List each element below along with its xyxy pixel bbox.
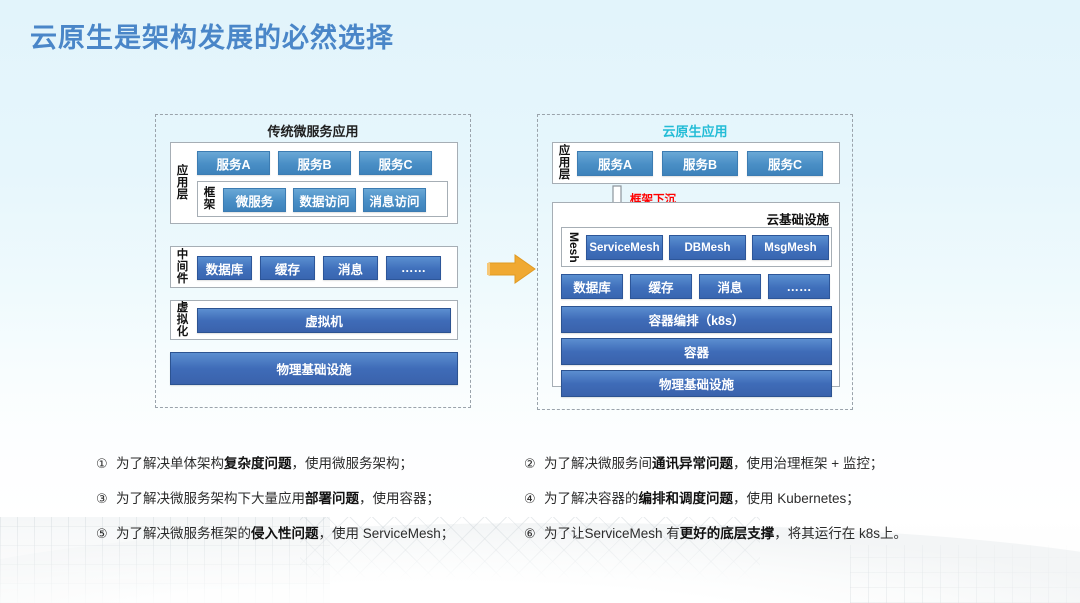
group-application-layer-left: 应用层 服务A 服务B 服务C 框架 微服务 数据访问 消息访问 <box>170 142 458 224</box>
bullet-number-1: ① <box>96 456 116 472</box>
bullet-list: ① 为了解决单体架构复杂度问题，使用微服务架构； ② 为了解决微服务间通讯异常问… <box>0 452 1080 552</box>
box-msg-mesh[interactable]: MsgMesh <box>752 235 829 260</box>
cloud-infrastructure-title: 云基础设施 <box>766 209 829 228</box>
box-service-c-right[interactable]: 服务C <box>747 151 823 176</box>
bullet-text-4-bold: 编排和调度问题 <box>639 487 734 507</box>
box-database-left[interactable]: 数据库 <box>197 256 252 280</box>
group-application-layer-right: 应用层 服务A 服务B 服务C <box>552 142 840 184</box>
box-message-right[interactable]: 消息 <box>699 274 761 299</box>
bullet-text-3-post: ，使用容器； <box>359 487 440 507</box>
bullet-number-2: ② <box>524 456 544 472</box>
bullet-text-6-post: ，将其运行在 k8s上。 <box>774 522 907 542</box>
box-virtual-machine-left[interactable]: 虚拟机 <box>197 308 451 333</box>
background-grid-right <box>850 545 1080 603</box>
bullet-number-6: ⑥ <box>524 526 544 542</box>
box-message-left[interactable]: 消息 <box>323 256 378 280</box>
bullet-text-5-pre: 为了解决微服务框架的 <box>116 522 251 542</box>
box-physical-infrastructure-right[interactable]: 物理基础设施 <box>561 370 832 397</box>
group-framework-left: 框架 微服务 数据访问 消息访问 <box>197 181 448 217</box>
framework-row-left: 微服务 数据访问 消息访问 <box>223 188 426 212</box>
side-label-framework-left: 框架 <box>201 187 218 211</box>
bullet-text-6-bold: 更好的底层支撑 <box>680 522 775 542</box>
side-label-middleware-left: 中间件 <box>174 249 191 285</box>
bullet-text-1-bold: 复杂度问题 <box>224 452 292 472</box>
group-virtualization-left: 虚拟化 虚拟机 <box>170 300 458 340</box>
box-container[interactable]: 容器 <box>561 338 832 365</box>
group-mesh: Mesh ServiceMesh DBMesh MsgMesh <box>561 227 832 267</box>
bullet-number-5: ⑤ <box>96 526 116 542</box>
box-service-c-left[interactable]: 服务C <box>359 151 432 175</box>
group-middleware-left: 中间件 数据库 缓存 消息 …… <box>170 246 458 288</box>
bullet-text-5-bold: 侵入性问题 <box>251 522 319 542</box>
bullet-item-3: ③ 为了解决微服务架构下大量应用部署问题，使用容器； <box>96 487 440 507</box>
box-service-mesh[interactable]: ServiceMesh <box>586 235 663 260</box>
bullet-text-6-pre: 为了让ServiceMesh 有 <box>544 522 680 542</box>
box-service-a-right[interactable]: 服务A <box>577 151 653 176</box>
bullet-text-2-post: ，使用治理框架 + 监控； <box>733 452 883 472</box>
bullet-text-3-pre: 为了解决微服务架构下大量应用 <box>116 487 305 507</box>
page-title: 云原生是架构发展的必然选择 <box>30 16 394 55</box>
side-label-application-layer-right: 应用层 <box>556 145 573 181</box>
box-database-right[interactable]: 数据库 <box>561 274 623 299</box>
bullet-item-6: ⑥ 为了让ServiceMesh 有更好的底层支撑，将其运行在 k8s上。 <box>524 522 907 542</box>
bullet-item-4: ④ 为了解决容器的编排和调度问题，使用 Kubernetes； <box>524 487 860 507</box>
box-data-access-left[interactable]: 数据访问 <box>293 188 356 212</box>
box-db-mesh[interactable]: DBMesh <box>669 235 746 260</box>
side-label-mesh: Mesh <box>565 232 582 263</box>
box-service-a-left[interactable]: 服务A <box>197 151 270 175</box>
right-arrow-icon <box>487 252 539 286</box>
cloud-native-architecture-panel: 云原生应用 应用层 服务A 服务B 服务C 框架下沉 云基础设施 Mesh Se… <box>537 114 853 410</box>
box-service-b-right[interactable]: 服务B <box>662 151 738 176</box>
bullet-item-1: ① 为了解决单体架构复杂度问题，使用微服务架构； <box>96 452 413 472</box>
mesh-row: ServiceMesh DBMesh MsgMesh <box>586 235 829 260</box>
box-cache-left[interactable]: 缓存 <box>260 256 315 280</box>
bullet-text-4-post: ，使用 Kubernetes； <box>733 487 860 507</box>
group-cloud-infrastructure: 云基础设施 Mesh ServiceMesh DBMesh MsgMesh 数据… <box>552 202 840 387</box>
bullet-text-3-bold: 部署问题 <box>305 487 359 507</box>
box-cache-right[interactable]: 缓存 <box>630 274 692 299</box>
bullet-number-3: ③ <box>96 491 116 507</box>
box-container-orchestration[interactable]: 容器编排（k8s） <box>561 306 832 333</box>
bullet-text-4-pre: 为了解决容器的 <box>544 487 639 507</box>
side-label-application-layer-left: 应用层 <box>174 165 191 201</box>
bullet-text-2-bold: 通讯异常问题 <box>652 452 733 472</box>
bullet-text-2-pre: 为了解决微服务间 <box>544 452 652 472</box>
box-message-access-left[interactable]: 消息访问 <box>363 188 426 212</box>
bullet-item-5: ⑤ 为了解决微服务框架的侵入性问题，使用 ServiceMesh； <box>96 522 454 542</box>
bullet-text-1-pre: 为了解决单体架构 <box>116 452 224 472</box>
transition-arrow <box>487 252 539 286</box>
bullet-text-1-post: ，使用微服务架构； <box>292 452 414 472</box>
middleware-row-left: 数据库 缓存 消息 …… <box>197 256 441 280</box>
bullet-number-4: ④ <box>524 491 544 507</box>
cloud-native-panel-title: 云原生应用 <box>538 121 852 140</box>
service-row-right: 服务A 服务B 服务C <box>577 151 823 176</box>
bullet-item-2: ② 为了解决微服务间通讯异常问题，使用治理框架 + 监控； <box>524 452 883 472</box>
box-microservice-left[interactable]: 微服务 <box>223 188 286 212</box>
box-ellipsis-right[interactable]: …… <box>768 274 830 299</box>
service-row-left: 服务A 服务B 服务C <box>197 151 432 175</box>
box-physical-infrastructure-left[interactable]: 物理基础设施 <box>170 352 458 385</box>
traditional-panel-title: 传统微服务应用 <box>156 121 470 140</box>
box-ellipsis-left[interactable]: …… <box>386 256 441 280</box>
side-label-virtualization-left: 虚拟化 <box>174 302 191 338</box>
box-service-b-left[interactable]: 服务B <box>278 151 351 175</box>
traditional-architecture-panel: 传统微服务应用 应用层 服务A 服务B 服务C 框架 微服务 数据访问 消息访问… <box>155 114 471 408</box>
middleware-row-right: 数据库 缓存 消息 …… <box>561 274 830 299</box>
bullet-text-5-post: ，使用 ServiceMesh； <box>319 522 455 542</box>
